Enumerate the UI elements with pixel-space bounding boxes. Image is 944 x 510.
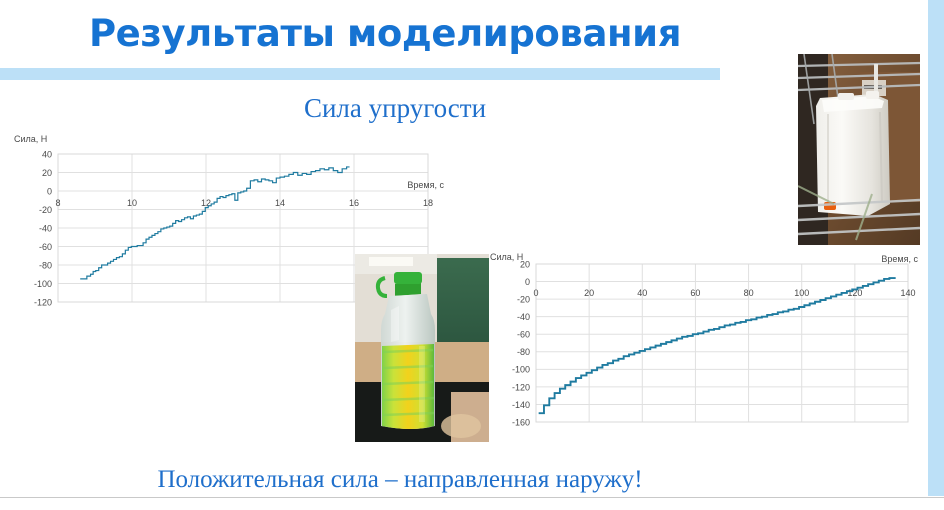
svg-text:Сила, Н: Сила, Н (490, 252, 523, 262)
canister-photo-art (798, 54, 920, 245)
svg-text:40: 40 (637, 288, 647, 298)
svg-text:8: 8 (55, 198, 60, 208)
bottle-photo-art (355, 254, 489, 442)
svg-text:12: 12 (201, 198, 211, 208)
bottom-divider (0, 497, 944, 498)
svg-text:-100: -100 (34, 279, 52, 289)
svg-text:20: 20 (584, 288, 594, 298)
svg-text:0: 0 (533, 288, 538, 298)
svg-text:-60: -60 (517, 330, 530, 340)
svg-text:-20: -20 (517, 295, 530, 305)
svg-text:0: 0 (525, 277, 530, 287)
page-title: Результаты моделирования (0, 12, 770, 55)
bottle-photo (355, 254, 489, 442)
accent-band-horizontal (0, 68, 720, 80)
svg-text:Сила, Н: Сила, Н (14, 134, 47, 144)
svg-text:18: 18 (423, 198, 433, 208)
svg-text:10: 10 (127, 198, 137, 208)
svg-text:-100: -100 (512, 365, 530, 375)
svg-text:40: 40 (42, 149, 52, 159)
svg-text:140: 140 (900, 288, 915, 298)
svg-text:Время, с: Время, с (407, 180, 444, 190)
svg-text:-80: -80 (39, 260, 52, 270)
chart-large-svg: 200-20-40-60-80-100-120-140-160020406080… (488, 250, 936, 446)
svg-text:0: 0 (47, 186, 52, 196)
svg-text:-80: -80 (517, 347, 530, 357)
svg-text:14: 14 (275, 198, 285, 208)
svg-text:-40: -40 (39, 223, 52, 233)
svg-text:80: 80 (744, 288, 754, 298)
slide-bottom-caption: Положительная сила – направленная наружу… (0, 466, 800, 494)
chart-elastic-force-large: 200-20-40-60-80-100-120-140-160020406080… (488, 250, 936, 446)
svg-text:60: 60 (690, 288, 700, 298)
svg-text:-60: -60 (39, 242, 52, 252)
svg-text:-120: -120 (34, 297, 52, 307)
canister-photo (798, 54, 920, 245)
slide-root: Результаты моделирования Сила упругости … (0, 0, 944, 510)
svg-text:20: 20 (42, 168, 52, 178)
svg-text:-40: -40 (517, 312, 530, 322)
svg-text:16: 16 (349, 198, 359, 208)
svg-text:-140: -140 (512, 400, 530, 410)
svg-text:100: 100 (794, 288, 809, 298)
svg-text:-160: -160 (512, 417, 530, 427)
svg-text:-20: -20 (39, 205, 52, 215)
svg-text:-120: -120 (512, 382, 530, 392)
slide-subtitle: Сила упругости (0, 93, 790, 124)
svg-text:Время, с: Время, с (881, 254, 918, 264)
